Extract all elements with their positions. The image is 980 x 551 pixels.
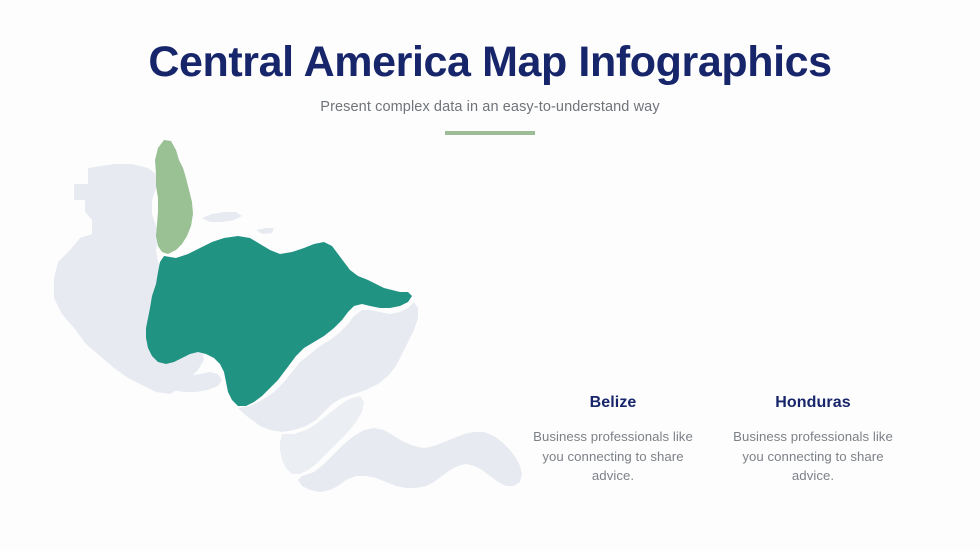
callout-title: Belize [532,392,694,414]
page-title: Central America Map Infographics [0,36,980,88]
callout-honduras[interactable]: Honduras Business professionals like you… [732,392,894,486]
page-subtitle: Present complex data in an easy-to-under… [0,97,980,117]
callout-body: Business professionals like you connecti… [532,427,694,486]
callout-body: Business professionals like you connecti… [732,427,894,486]
callout-title: Honduras [732,392,894,414]
slide-header: Central America Map Infographics Present… [0,36,980,135]
map-region-belize[interactable] [155,140,193,254]
title-divider [445,131,535,135]
central-america-map [52,138,552,510]
slide-canvas: Central America Map Infographics Present… [0,0,980,551]
callout-belize[interactable]: Belize Business professionals like you c… [532,392,694,486]
country-callout-list: Belize Business professionals like you c… [532,392,952,486]
map-region-islands [202,212,274,234]
